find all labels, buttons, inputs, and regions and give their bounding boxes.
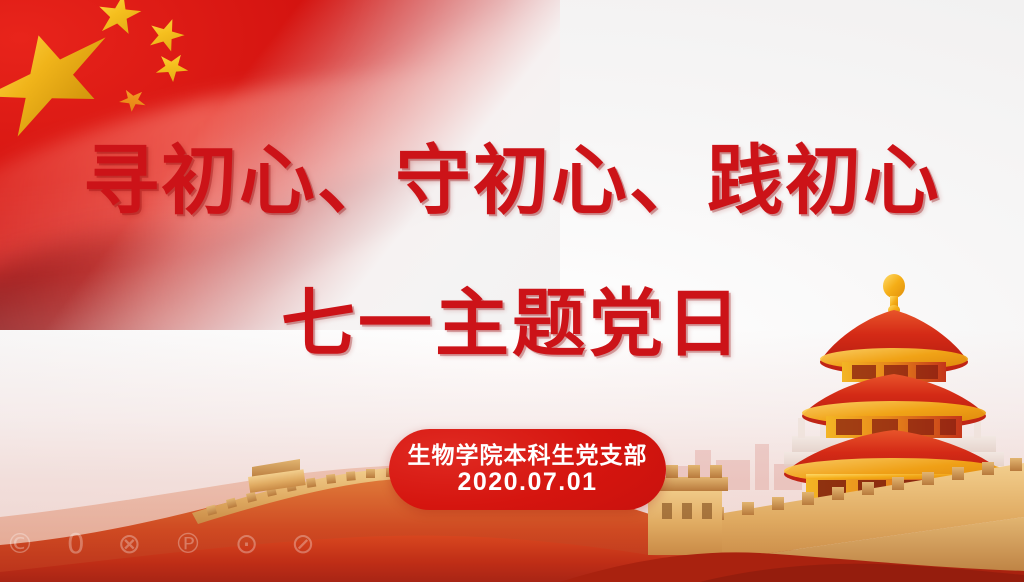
page-title: 寻初心、守初心、践初心	[0, 143, 1024, 219]
page-subtitle: 七一主题党日	[0, 287, 1024, 361]
badge-organization-label: 生物学院本科生党支部	[408, 444, 648, 470]
organization-badge: 生物学院本科生党支部 2020.07.01	[389, 429, 666, 510]
presentation-slide: 寻初心、守初心、践初心 七一主题党日 生物学院本科生党支部 2020.07.01…	[0, 0, 1024, 582]
badge-date-label: 2020.07.01	[457, 469, 597, 495]
